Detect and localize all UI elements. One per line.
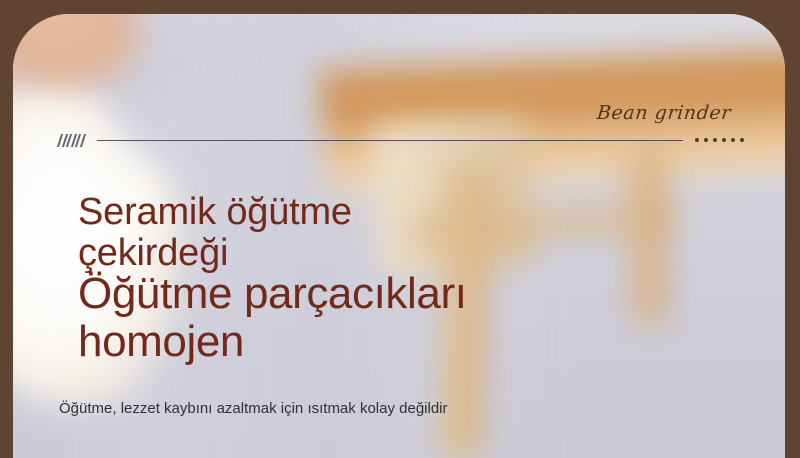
secondary-heading: Öğütme parçacıkları homojen [78, 270, 498, 367]
photo-wood-leg-rear [629, 147, 667, 325]
subtitle-text: Öğütme, lezzet kaybını azaltmak için ısı… [59, 399, 448, 419]
banner-frame: Bean grinder Seramik öğütme çekirdeği Öğ… [0, 0, 800, 458]
secondary-heading-line-1: Öğütme parçacıkları [78, 269, 467, 318]
primary-heading: Seramik öğütme çekirdeği [78, 192, 498, 274]
headline-block: Seramik öğütme çekirdeği Öğütme parçacık… [78, 192, 498, 367]
secondary-heading-line-2: homojen [78, 318, 498, 366]
brand-script-label: Bean grinder [596, 102, 732, 124]
content-card: Bean grinder Seramik öğütme çekirdeği Öğ… [13, 14, 785, 458]
